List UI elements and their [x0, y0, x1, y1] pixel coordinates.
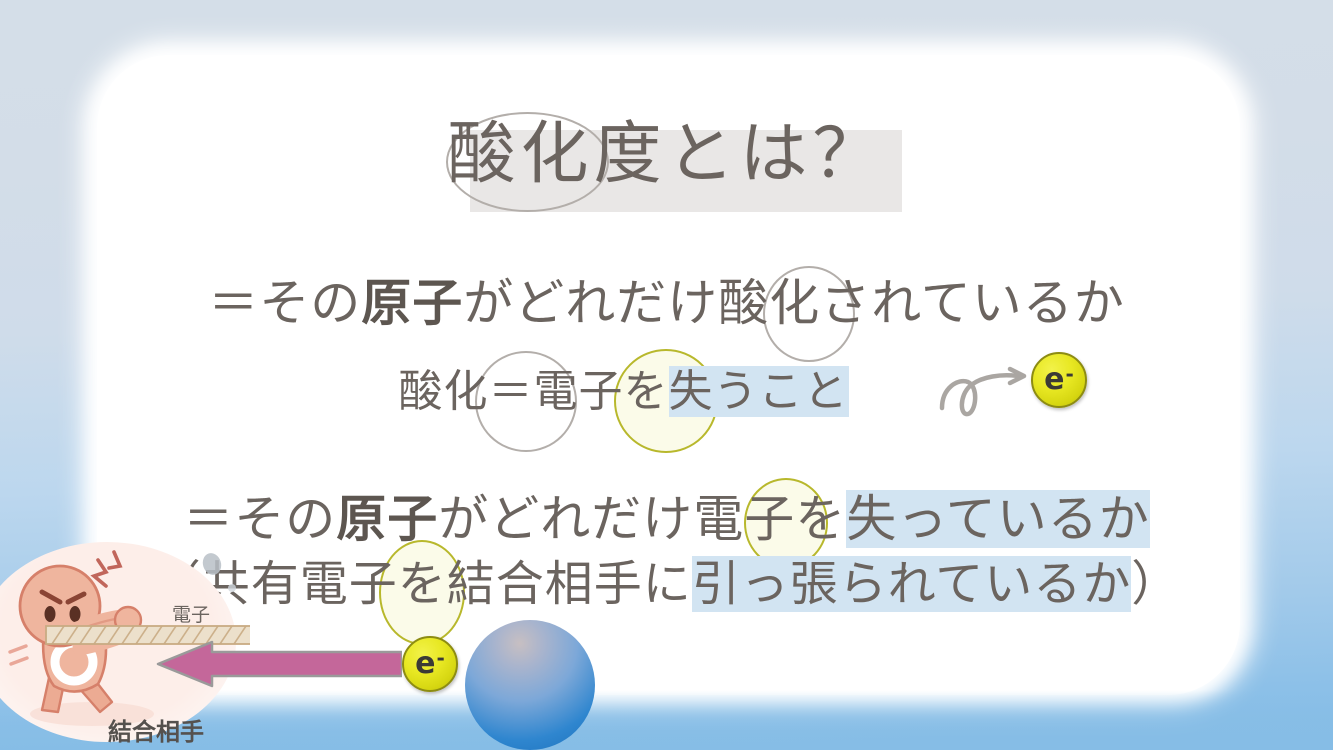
line3-circled-denshi-text: 電子	[693, 490, 795, 548]
line1-mid: がどれだけ	[463, 274, 718, 332]
electron-badge-2: e-	[402, 636, 458, 692]
body-line-2: 酸化＝電子を失うこと	[0, 366, 1333, 418]
line2-highlight-ushinau: 失うこと	[669, 366, 849, 417]
electron-e-label: e	[415, 649, 435, 679]
electron-minus-label: -	[437, 648, 445, 668]
line3-highlight-ushinatte: 失っているか	[846, 490, 1150, 548]
electron-badge-1: e-	[1031, 352, 1087, 408]
line1-circled-sanka-text: 酸化	[718, 274, 820, 332]
line1-suffix: されているか	[820, 274, 1125, 332]
page-title: 酸化度とは？	[0, 116, 1333, 194]
electron-minus-label: -	[1066, 364, 1074, 384]
line3-mid: がどれだけ	[438, 490, 693, 548]
electron-pull-arrow-icon	[152, 640, 402, 688]
line2-circled-sanka-text: 酸化	[399, 366, 489, 417]
line1-prefix: ＝その	[208, 274, 361, 332]
electron-e-label: e	[1044, 365, 1064, 395]
line2-equals: ＝	[489, 366, 534, 417]
line4-mid: を結合相手に	[398, 556, 692, 612]
line4-circled-denshi-text: 電子	[300, 556, 398, 612]
curved-arrow-icon	[932, 352, 1037, 422]
body-line-1: ＝その原子がどれだけ酸化されているか	[0, 274, 1333, 332]
line3-particle: を	[795, 490, 846, 548]
line2-particle: を	[624, 366, 669, 417]
line4-highlight-hipparareteiru: 引っ張られているか	[692, 556, 1132, 612]
atom-sphere-blue	[465, 620, 595, 750]
line1-bold-genshi: 原子	[361, 274, 463, 332]
illustration-rope-label: 電子	[172, 600, 210, 627]
illustration-partner-label: 結合相手	[108, 712, 204, 747]
line2-circled-denshi-text: 電子	[534, 366, 624, 417]
line4-close-paren: ）	[1131, 556, 1180, 612]
line3-bold-genshi: 原子	[336, 490, 438, 548]
